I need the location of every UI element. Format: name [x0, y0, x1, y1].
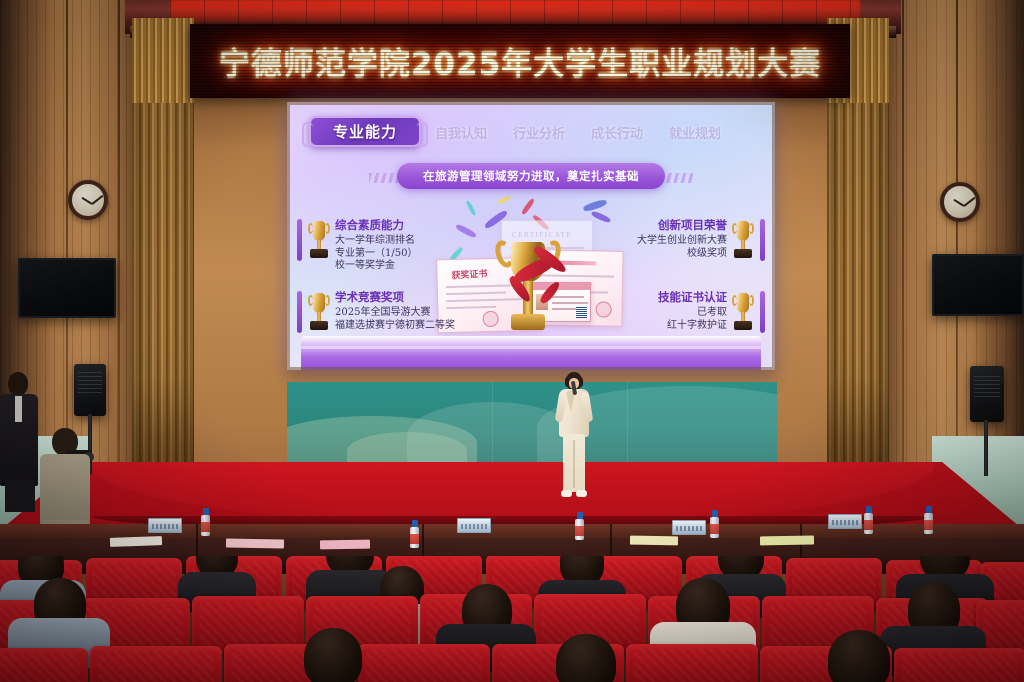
award-line: 专业第一（1/50）	[335, 248, 462, 261]
slide-platform-graphic	[301, 336, 761, 370]
accent-bar	[297, 291, 302, 333]
streamer-decoration	[583, 198, 608, 212]
wall-clock-right	[940, 182, 980, 222]
audience-seat[interactable]	[0, 648, 88, 682]
wall-clock-left	[68, 180, 108, 220]
paper-sheet	[630, 536, 678, 546]
led-banner: 宁德师范学院2025年大学生职业规划大赛	[190, 24, 850, 98]
slide-headline: 在旅游管理领域努力进取，奠定扎实基础	[397, 163, 665, 189]
banner-title: 宁德师范学院2025年大学生职业规划大赛	[190, 39, 850, 84]
paper-sheet	[226, 538, 284, 548]
award-item: 综合素质能力 大一学年综测排名 专业第一（1/50） 校一等奖学金	[297, 217, 462, 279]
speaker-left	[74, 364, 106, 416]
water-bottle	[575, 512, 584, 540]
streamer-decoration	[521, 198, 536, 216]
projection-screen: CERTIFICATE 获奖证书	[287, 102, 775, 370]
audience-seat[interactable]	[894, 648, 1024, 682]
streamer-decoration	[465, 200, 476, 216]
award-line: 校级奖项	[600, 248, 727, 261]
accent-bar	[760, 219, 765, 261]
center-trophy	[497, 232, 559, 336]
presenter-shoe	[576, 490, 587, 497]
ceiling-grid	[170, 0, 860, 24]
accent-bar	[760, 291, 765, 333]
audience-person-head	[304, 628, 362, 682]
presenter-shoe	[561, 490, 572, 497]
water-bottle	[410, 520, 419, 548]
presenter-trousers	[563, 434, 585, 492]
slide-section-badge-label: 专业能力	[333, 121, 397, 142]
award-line: 红十字救护证	[600, 320, 727, 333]
slide-tab-industry-analysis[interactable]: 行业分析	[513, 123, 565, 142]
stage-backdrop	[287, 382, 777, 470]
water-bottle	[710, 510, 719, 538]
award-title: 创新项目荣誉	[600, 217, 727, 233]
audience-seat[interactable]	[626, 644, 758, 682]
paper-sheet	[110, 536, 162, 547]
trophy-icon	[309, 221, 329, 261]
speaker-right	[970, 366, 1004, 422]
water-bottle	[924, 506, 933, 534]
name-card	[148, 518, 182, 533]
award-line: 大一学年综测排名	[335, 235, 462, 248]
slide-tab-bar: 自我认知 行业分析 成长行动 就业规划	[435, 120, 763, 144]
award-line: 大学生创业创新大赛	[600, 235, 727, 248]
award-line: 已考取	[600, 307, 727, 320]
audience-seat[interactable]	[90, 646, 222, 682]
audience-person-head	[828, 630, 890, 682]
award-line: 2025年全国导游大赛	[335, 307, 462, 320]
audience-seating	[0, 556, 1024, 682]
water-bottle	[864, 506, 873, 534]
name-card	[672, 520, 706, 535]
curtain-valance-left	[132, 18, 194, 103]
audience-seat[interactable]	[358, 644, 490, 682]
paper-sheet	[320, 540, 370, 550]
award-item: 创新项目荣誉 大学生创业创新大赛 校级奖项	[600, 217, 765, 279]
wall-monitor-left	[18, 258, 116, 318]
paper-sheet	[760, 536, 814, 546]
name-card	[457, 518, 491, 533]
award-title: 学术竞赛奖项	[335, 289, 462, 305]
accent-bar	[297, 219, 302, 261]
presenter	[553, 372, 595, 500]
trophy-icon	[733, 221, 753, 261]
auditorium-scene: 宁德师范学院2025年大学生职业规划大赛 CERTIFICATE 获奖证书	[0, 0, 1024, 682]
slide-section-badge[interactable]: 专业能力	[309, 116, 421, 147]
award-line: 校一等奖学金	[335, 260, 462, 273]
award-title: 综合素质能力	[335, 217, 462, 233]
speaker-stand-right	[984, 420, 988, 476]
certificate-artwork: CERTIFICATE 获奖证书	[435, 220, 625, 340]
trophy-icon	[733, 293, 753, 333]
name-card	[828, 514, 862, 529]
standing-staff-person	[0, 372, 40, 512]
slide-tab-self-awareness[interactable]: 自我认知	[435, 123, 487, 142]
streamer-decoration	[497, 196, 511, 205]
water-bottle	[201, 508, 210, 536]
slide-tab-career-plan[interactable]: 就业规划	[669, 123, 721, 142]
audience-person-head	[556, 634, 616, 682]
trophy-icon	[309, 293, 329, 333]
award-title: 技能证书认证	[600, 289, 727, 305]
slide-tab-growth-action[interactable]: 成长行动	[591, 123, 643, 142]
wall-monitor-right	[932, 254, 1024, 316]
award-line: 福建选拔赛宁德初赛二等奖	[335, 320, 462, 333]
